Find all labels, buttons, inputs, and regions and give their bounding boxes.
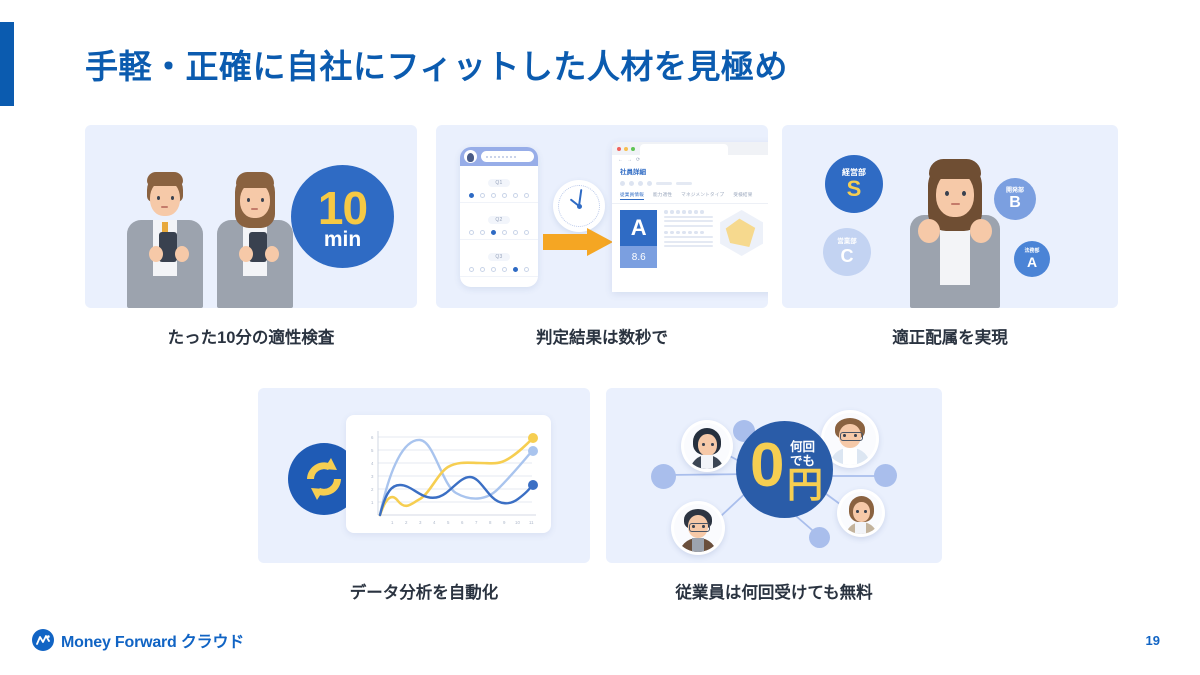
title-accent-bar [0,22,14,106]
feature-card-3: 経営部 S 開発部 B 営業部 C 法務部 A 適正配属を実現 [782,125,1118,348]
free-badge-0yen: 0 何回 でも 円 [736,421,833,518]
card-3-caption: 適正配属を実現 [782,324,1118,348]
dept-badge-rank: S [847,178,862,200]
card-1-illustration: 10 min [85,125,417,308]
badge-10-min: 10 min [291,165,394,268]
browser-tab-strip[interactable]: 従業員情報 能力適性 マネジメントタイプ 受検結果 [612,189,768,204]
phone-header [460,147,538,166]
feature-card-2: Q1 Q2 Q3 Q4 [436,125,768,348]
grade-block: A 8.6 [620,210,657,268]
illustration-person-man [123,168,207,308]
card-3-illustration: 経営部 S 開発部 B 営業部 C 法務部 A [782,125,1118,308]
browser-tab[interactable] [640,144,728,155]
svg-text:5: 5 [371,448,374,453]
browser-meta-row [612,179,768,189]
avatar-icon [464,150,477,163]
reload-icon[interactable]: ⟳ [636,157,640,163]
page-title: 手軽・正確に自社にフィットした人材を見極め [85,40,788,88]
dept-badge-kaihatsu: 開発部 B [994,178,1036,220]
svg-text:9: 9 [503,520,506,525]
question-label: Q1 [488,179,509,187]
svg-text:7: 7 [475,520,478,525]
slide: 手軽・正確に自社にフィットした人材を見極め [0,0,1200,675]
dept-badge-keiei: 経営部 S [825,155,883,213]
svg-text:6: 6 [371,435,374,440]
svg-text:1: 1 [391,520,394,525]
browser-titlebar [612,142,768,155]
question-label: Q3 [488,253,509,261]
badge-number: 10 [291,165,394,231]
employee-avatar [671,501,725,555]
svg-text:11: 11 [529,520,534,525]
badge-amount: 0 [750,435,784,497]
card-5-caption: 従業員は何回受けても無料 [606,579,942,603]
employee-avatar [681,420,733,472]
browser-navbar: ← → ⟳ [612,155,768,164]
feature-card-1: 10 min たった10分の適性検査 [85,125,417,348]
quiz-question-row: Q1 [460,171,538,203]
dept-badge-rank: A [1027,255,1037,269]
line-chart: 6 5 4 3 2 1 1 2 3 4 5 6 7 8 9 10 [346,415,551,533]
browser-tab-item[interactable]: 能力適性 [653,192,672,200]
card-5-illustration: 0 何回 でも 円 [606,388,942,563]
radar-chart [720,210,763,256]
dept-badge-name: 営業部 [837,239,857,246]
card-2-illustration: Q1 Q2 Q3 Q4 [436,125,768,308]
question-options[interactable] [460,267,538,277]
dept-badge-eigyo: 営業部 C [823,228,871,276]
feature-card-5: 0 何回 でも 円 従業員は何回受けても無料 [606,388,942,603]
quiz-question-row: Q4 [460,282,538,287]
browser-tab-item[interactable]: マネジメントタイプ [681,192,724,200]
placeholder-text-lines [664,210,713,268]
illustration-person-cheering [900,153,1010,308]
question-options[interactable] [460,193,538,203]
page-number: 19 [1146,633,1160,648]
browser-page-title: 社員詳細 [612,164,768,179]
svg-text:8: 8 [489,520,492,525]
arrow-right-icon [543,228,615,254]
card-4-illustration: 6 5 4 3 2 1 1 2 3 4 5 6 7 8 9 10 [258,388,590,563]
svg-text:4: 4 [371,461,374,466]
dept-badge-homu: 法務部 A [1014,241,1050,277]
dept-badge-rank: B [1009,195,1021,211]
svg-text:6: 6 [461,520,464,525]
svg-text:1: 1 [371,500,374,505]
card-2-caption: 判定結果は数秒で [436,324,768,348]
svg-text:5: 5 [447,520,450,525]
browser-tab-item[interactable]: 従業員情報 [620,192,644,200]
browser-content: A 8.6 [612,204,768,268]
quiz-question-row: Q3 [460,245,538,277]
dept-badge-rank: C [841,247,854,265]
footer-logo-text: Money Forward クラウド [61,628,244,652]
forward-icon[interactable]: → [627,157,632,163]
feature-card-4: 6 5 4 3 2 1 1 2 3 4 5 6 7 8 9 10 [258,388,590,603]
svg-text:10: 10 [515,520,520,525]
svg-text:2: 2 [371,487,374,492]
network-node [651,464,676,489]
clock-icon [553,180,605,232]
question-label: Q2 [488,216,509,224]
svg-text:2: 2 [405,520,408,525]
svg-text:3: 3 [371,474,374,479]
quiz-question-row: Q2 [460,208,538,240]
illustration-person-woman [213,168,297,308]
card-1-caption: たった10分の適性検査 [85,324,417,348]
analytics-chart-card: 6 5 4 3 2 1 1 2 3 4 5 6 7 8 9 10 [346,415,551,533]
browser-tab-item[interactable]: 受検結果 [733,192,752,200]
phone-search-bar [481,151,534,162]
browser-result-mockup: ← → ⟳ 社員詳細 従業員情報 能力適性 マネジメントタイプ 受検結果 [612,142,768,292]
badge-unit: min [291,229,394,250]
grade-score: 8.6 [620,246,657,268]
question-options[interactable] [460,230,538,240]
grade-letter: A [620,210,657,246]
svg-text:4: 4 [433,520,436,525]
back-icon[interactable]: ← [618,157,623,163]
card-4-caption: データ分析を自動化 [258,579,590,603]
money-forward-logo-icon [32,629,54,651]
phone-quiz-mockup: Q1 Q2 Q3 Q4 [460,147,538,287]
svg-text:3: 3 [419,520,422,525]
employee-avatar [837,489,885,537]
dept-badge-name: 開発部 [1006,188,1024,194]
network-node [874,464,897,487]
badge-currency: 円 [787,467,823,503]
footer-logo: Money Forward クラウド [32,628,244,652]
network-node [809,527,830,548]
